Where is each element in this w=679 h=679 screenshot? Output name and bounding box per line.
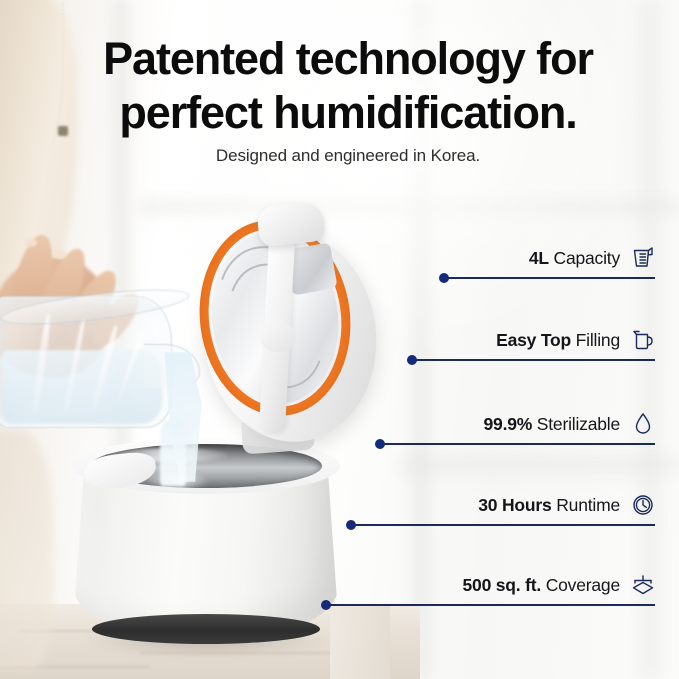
feature-label: 4L Capacity xyxy=(529,248,620,269)
feature-value: 99.9% xyxy=(484,414,533,434)
feature-row: 500 sq. ft. Coverage xyxy=(463,572,655,598)
feature-line-dot xyxy=(346,520,356,530)
product-infographic: Patented technology for perfect humidifi… xyxy=(0,0,679,679)
feature-row: Easy Top Filling xyxy=(496,327,655,353)
feature-line-dot xyxy=(375,439,385,449)
pitcher-icon xyxy=(631,327,655,353)
feature-underline xyxy=(443,277,655,279)
feature-list: 4L CapacityEasy Top Filling99.9% Sterili… xyxy=(0,0,679,679)
clock-icon xyxy=(631,492,655,518)
feature-row: 99.9% Sterilizable xyxy=(484,411,655,437)
feature-item: 4L Capacity xyxy=(0,231,679,279)
feature-description: Coverage xyxy=(541,575,620,595)
feature-value: 4L xyxy=(529,248,549,268)
feature-underline xyxy=(350,524,655,526)
feature-underline xyxy=(411,359,655,361)
feature-value: 30 Hours xyxy=(478,495,551,515)
feature-label: 500 sq. ft. Coverage xyxy=(463,575,620,596)
feature-row: 30 Hours Runtime xyxy=(478,492,655,518)
feature-label: 99.9% Sterilizable xyxy=(484,414,620,435)
water-drop-icon xyxy=(631,411,655,437)
feature-description: Sterilizable xyxy=(532,414,620,434)
feature-item: 500 sq. ft. Coverage xyxy=(0,558,679,606)
feature-item: 30 Hours Runtime xyxy=(0,478,679,526)
feature-line-dot xyxy=(407,355,417,365)
feature-description: Filling xyxy=(571,330,620,350)
feature-description: Runtime xyxy=(552,495,620,515)
feature-value: 500 sq. ft. xyxy=(463,575,542,595)
feature-line-dot xyxy=(439,273,449,283)
feature-label: 30 Hours Runtime xyxy=(478,495,620,516)
feature-item: Easy Top Filling xyxy=(0,313,679,361)
feature-line-dot xyxy=(321,600,331,610)
feature-underline xyxy=(379,443,655,445)
feature-value: Easy Top xyxy=(496,330,571,350)
feature-row: 4L Capacity xyxy=(529,245,655,271)
feature-item: 99.9% Sterilizable xyxy=(0,397,679,445)
feature-underline xyxy=(325,604,655,606)
feature-description: Capacity xyxy=(549,248,620,268)
coverage-area-icon xyxy=(631,572,655,598)
measuring-cup-icon xyxy=(631,245,655,271)
feature-label: Easy Top Filling xyxy=(496,330,620,351)
